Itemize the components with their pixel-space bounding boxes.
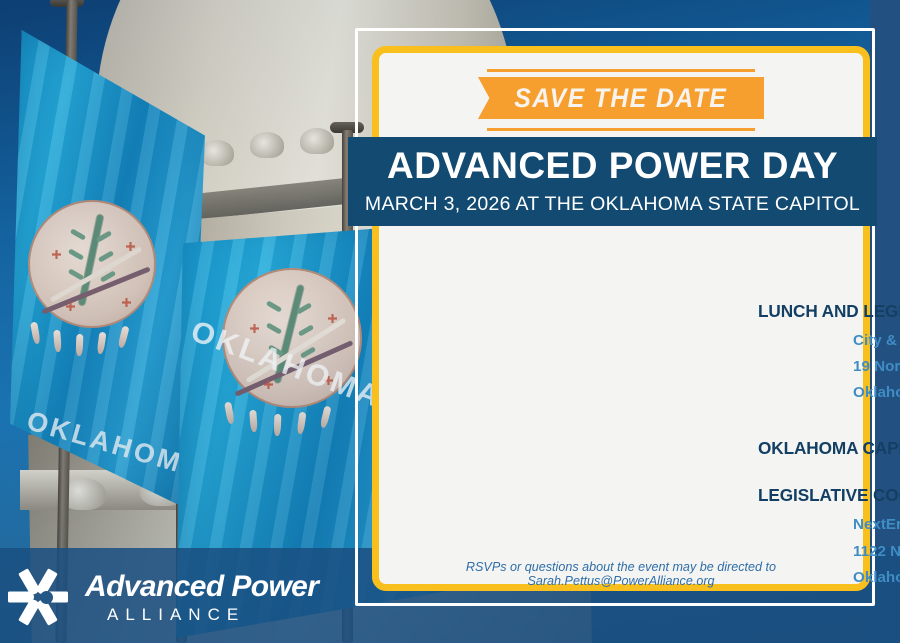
event-block-capitol-visit: OKLAHOMA CAPITOL VISIT: 1:30 – 3:30 PM — [758, 438, 900, 459]
event-details: LUNCH AND LEGISLATIVE UPDATE: 11:00 AM –… — [758, 301, 900, 595]
title-banner: ADVANCED POWER DAY MARCH 3, 2026 AT THE … — [348, 137, 877, 226]
ribbon-shape: SAVE THE DATE — [478, 77, 764, 119]
page-subtitle: MARCH 3, 2026 AT THE OKLAHOMA STATE CAPI… — [365, 193, 860, 216]
advanced-power-alliance-logo: Advanced Power ALLIANCE — [18, 569, 318, 625]
event-location-line: NextEra Energy Resources — [853, 512, 900, 538]
rsvp-note: RSVPs or questions about the event may b… — [379, 560, 863, 588]
event-heading: LEGISLATIVE COCKTAIL RECEPTION: 4:00 – 6… — [758, 485, 900, 506]
logo-subtitle: ALLIANCE — [107, 606, 318, 623]
spacer — [758, 463, 900, 485]
spacer — [758, 410, 900, 438]
page-title: ADVANCED POWER DAY — [387, 147, 838, 186]
event-heading: OKLAHOMA CAPITOL VISIT: 1:30 – 3:30 PM — [758, 438, 900, 459]
ribbon-label: SAVE THE DATE — [514, 83, 727, 114]
event-location-line: City & State – State of Affairs Ballroom — [853, 328, 900, 354]
event-heading: LUNCH AND LEGISLATIVE UPDATE: 11:00 AM –… — [758, 301, 900, 322]
swirl-turbine-icon — [18, 569, 74, 625]
ribbon-rule-bottom — [487, 128, 755, 131]
event-location-line: 19 Northeast 6th Street — [853, 354, 900, 380]
event-location-lines: City & State – State of Affairs Ballroom… — [758, 328, 900, 406]
event-location-line: Oklahoma City, OK 73104 — [853, 380, 900, 406]
save-the-date-banner: SAVE THE DATE — [379, 69, 863, 131]
logo-name: Advanced Power — [85, 572, 318, 602]
event-block-lunch: LUNCH AND LEGISLATIVE UPDATE: 11:00 AM –… — [758, 301, 900, 406]
event-card: SAVE THE DATE LUNCH AND LEGISLATIVE UPDA… — [372, 46, 870, 591]
ribbon-rule-top — [487, 69, 755, 72]
logo-wordmark: Advanced Power ALLIANCE — [85, 572, 318, 623]
event-flyer: OKLAHOMA — [0, 0, 900, 643]
